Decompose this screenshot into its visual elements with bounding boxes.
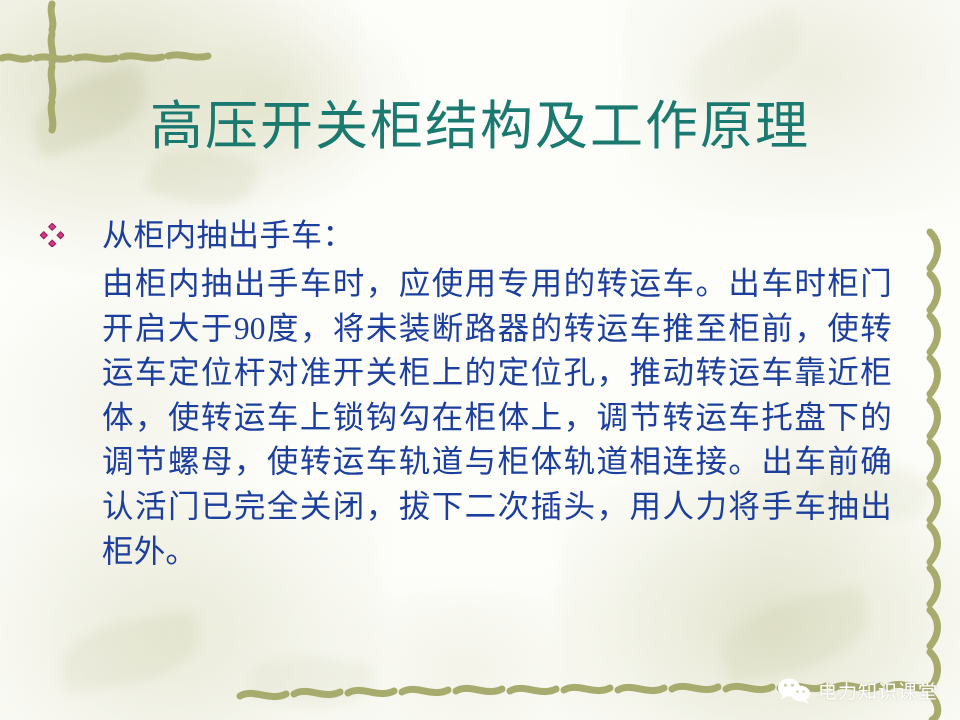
slide-body: 从柜内抽出手车： 由柜内抽出手车时，应使用专用的转运车。出车时柜门开启大于90度…: [40, 214, 920, 574]
diamond-cluster-bullet-icon: [40, 214, 102, 247]
leaf-silhouette-4: [246, 645, 373, 717]
bamboo-vertical-stem: [916, 228, 956, 720]
bullet-list-item: 从柜内抽出手车：: [40, 214, 920, 258]
background-wash-bottom-mid: [300, 590, 630, 720]
bamboo-horizontal-stem: [236, 676, 960, 710]
leaf-silhouette-3: [56, 611, 204, 694]
watermark-label: 电力知识课堂: [818, 677, 938, 704]
bullet-item-label: 从柜内抽出手车：: [102, 214, 920, 258]
watermark: 电力知识课堂: [777, 676, 938, 704]
leaf-silhouette-5: [714, 585, 875, 685]
page-title: 高压开关柜结构及工作原理: [0, 96, 960, 159]
body-paragraph: 由柜内抽出手车时，应使用专用的转运车。出车时柜门开启大于90度，将未装断路器的转…: [102, 262, 892, 574]
slide-canvas: 高压开关柜结构及工作原理: [0, 0, 960, 720]
wechat-icon: [777, 676, 811, 704]
